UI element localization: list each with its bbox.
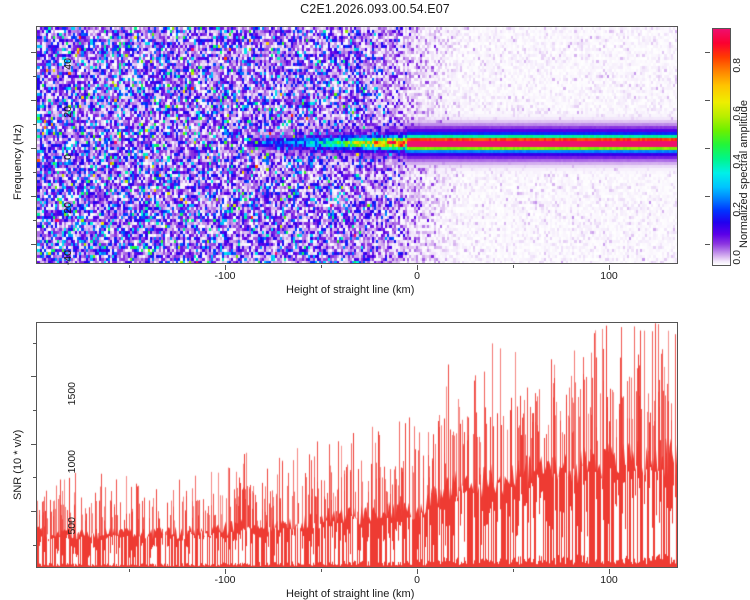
snr-ytick-minor-250: [33, 545, 36, 546]
snr-xticklabel-100: 100: [579, 574, 639, 586]
spec-xticklabel-100: 100: [579, 270, 639, 282]
spec-yticklabel-m40: -40: [62, 250, 74, 290]
snr-ytick-minor-1250: [33, 410, 36, 411]
spectrogram-axes: [36, 26, 678, 264]
cbar-tick-06: [705, 100, 710, 101]
cbar-ticklabel-08: 0.8: [731, 58, 743, 98]
page-title: C2E1.2026.093.00.54.E07: [0, 2, 750, 16]
spec-ytick-minor-10: [33, 124, 36, 125]
snr-axes: [36, 322, 678, 568]
snr-ytick-500: [31, 511, 36, 512]
snr-x-axis-title: Height of straight line (km): [286, 588, 414, 600]
snr-xtick-minor-50: [513, 569, 514, 572]
spec-yticklabel-40: 40: [62, 58, 74, 98]
cbar-tick-02: [705, 196, 710, 197]
spec-yticklabel-0: 0: [62, 154, 74, 194]
colorbar-gradient: [713, 29, 730, 265]
spec-xtick-minor-m150: [129, 265, 130, 268]
cbar-tick-00: [705, 244, 710, 245]
snr-ytick-minor-1750: [33, 343, 36, 344]
spec-xtick-minor-50: [513, 265, 514, 268]
cbar-tick-04: [705, 148, 710, 149]
snr-xtick-minor-m150: [129, 569, 130, 572]
spec-ytick-minor-m10: [33, 172, 36, 173]
spectrogram-image: [37, 27, 677, 263]
spec-ytick-m40: [31, 244, 36, 245]
snr-ytick-minor-750: [33, 477, 36, 478]
cbar-tick-08: [705, 52, 710, 53]
spec-yticklabel-20: 20: [62, 106, 74, 146]
spec-ytick-minor-m30: [33, 220, 36, 221]
snr-xtick-minor-m50: [321, 569, 322, 572]
snr-trace: [37, 323, 677, 567]
spec-ytick-40: [31, 52, 36, 53]
snr-y-axis-title: SNR (10 * v/v): [12, 430, 24, 500]
colorbar-axis-title: Normalized spectral amplitude: [738, 100, 750, 248]
spec-ytick-m20: [31, 196, 36, 197]
spec-xtick-minor-m50: [321, 265, 322, 268]
colorbar: [712, 28, 731, 266]
spec-ytick-minor-30: [33, 76, 36, 77]
spec-ytick-20: [31, 100, 36, 101]
spectrogram-x-axis-title: Height of straight line (km): [286, 284, 414, 296]
spec-xticklabel-0: 0: [387, 270, 447, 282]
snr-yticklabel-1500: 1500: [66, 382, 78, 426]
snr-yticklabel-1000: 1000: [66, 450, 78, 494]
snr-ytick-1000: [31, 444, 36, 445]
spec-yticklabel-m20: -20: [62, 202, 74, 242]
snr-xticklabel-0: 0: [387, 574, 447, 586]
figure-root: C2E1.2026.093.00.54.E07 40 20 0 -20 -40 …: [0, 0, 750, 600]
spectrogram-y-axis-title: Frequency (Hz): [12, 124, 24, 200]
cbar-ticklabel-00: 0.0: [731, 250, 743, 290]
spec-ytick-0: [31, 148, 36, 149]
snr-ytick-1500: [31, 376, 36, 377]
spec-xticklabel-m100: -100: [195, 270, 255, 282]
snr-yticklabel-500: 500: [66, 517, 78, 561]
snr-xticklabel-m100: -100: [195, 574, 255, 586]
